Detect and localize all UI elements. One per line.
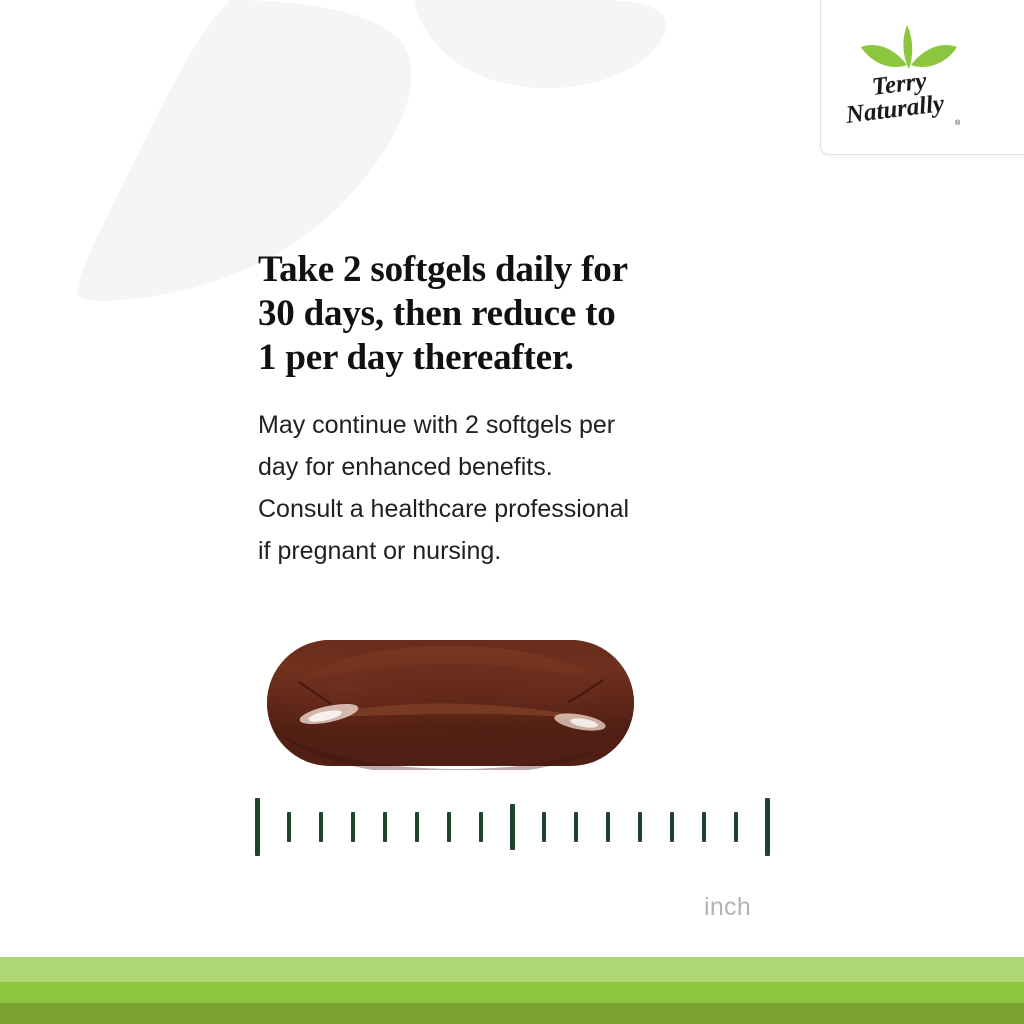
wordmark-naturally: Naturally [843,90,946,129]
ruler-tick-minor [574,812,578,842]
ruler-tick-minor [351,812,355,842]
ruler-tick-minor [383,812,387,842]
brand-wordmark: Terry Naturally ® [843,67,973,137]
body-line-3: Consult a healthcare professional [258,488,758,530]
footer-stripe-light [0,957,1024,982]
ruler-tick-minor [702,812,706,842]
softgel-capsule-image [267,636,634,770]
ruler-tick-minor [415,812,419,842]
headline-line-2: 30 days, then reduce to [258,292,728,336]
ruler-tick-minor [670,812,674,842]
ruler-unit-label: inch [704,893,751,922]
ruler-tick-mid [510,804,515,850]
headline-line-3: 1 per day thereafter. [258,336,728,380]
ruler-tick-minor [734,812,738,842]
ruler-tick-minor [542,812,546,842]
body-line-1: May continue with 2 softgels per [258,404,758,446]
page-title: Take 2 softgels daily for 30 days, then … [258,248,728,380]
instruction-body-text: May continue with 2 softgels per day for… [258,404,758,572]
ruler-tick-minor [447,812,451,842]
brand-logo: Terry Naturally ® [843,21,973,141]
ruler-tick-minor [287,812,291,842]
inch-ruler [255,798,770,860]
ruler-tick-major [765,798,770,856]
ruler-tick-major [255,798,260,856]
registered-trademark-symbol: ® [955,119,961,127]
headline-line-1: Take 2 softgels daily for [258,248,728,292]
footer-stripe-dark [0,1003,1024,1024]
ruler-tick-minor [606,812,610,842]
product-instruction-card: Terry Naturally ® Take 2 softgels daily … [0,0,1024,1024]
body-line-2: day for enhanced benefits. [258,446,758,488]
footer-stripe-mid [0,982,1024,1003]
brand-logo-card: Terry Naturally ® [820,0,1024,155]
ruler-tick-minor [638,812,642,842]
body-line-4: if pregnant or nursing. [258,530,758,572]
ruler-tick-minor [479,812,483,842]
ruler-tick-minor [319,812,323,842]
